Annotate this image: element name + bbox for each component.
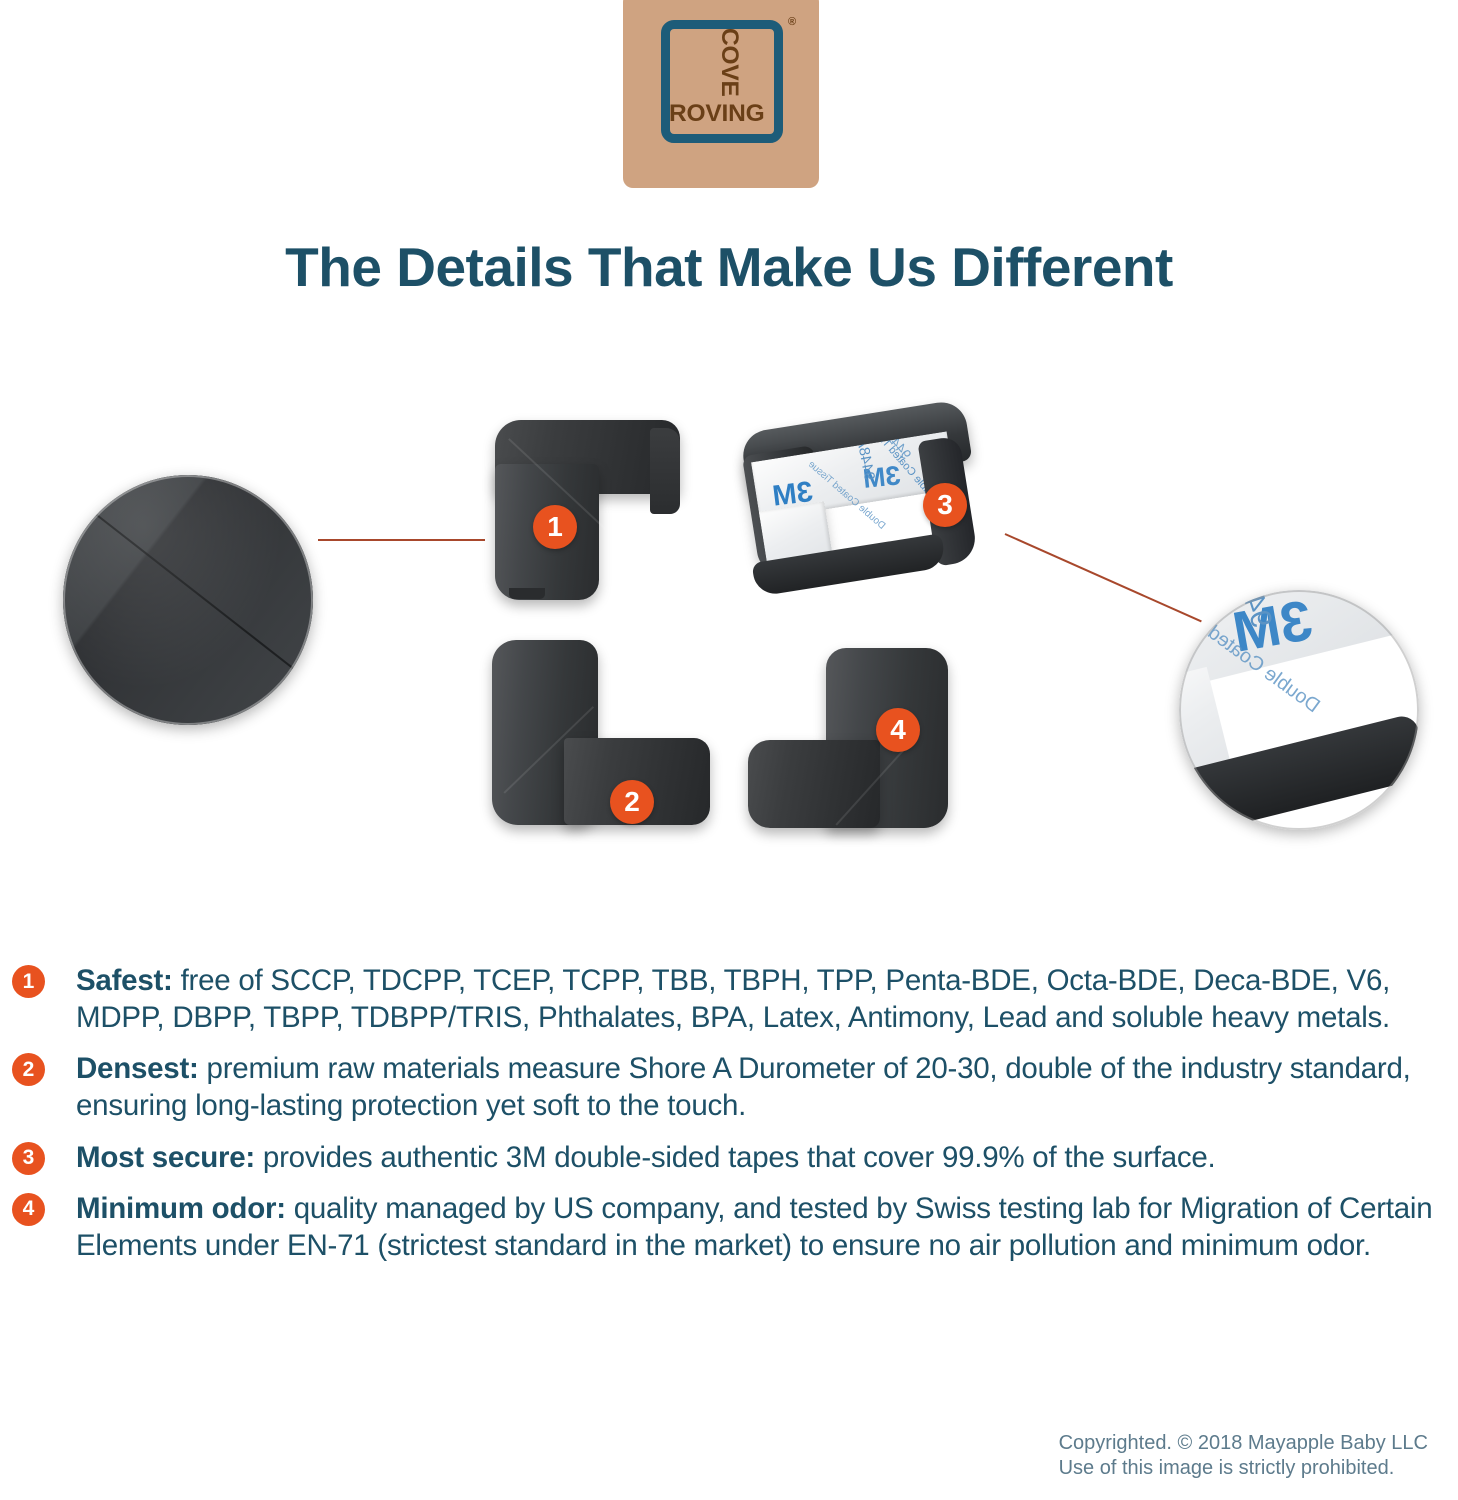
guard-bottom-tab: [509, 588, 545, 599]
leader-line-right: [1005, 533, 1202, 622]
copyright-line-2: Use of this image is strictly prohibited…: [1059, 1456, 1428, 1482]
copyright-notice: Copyrighted. © 2018 Mayapple Baby LLC Us…: [1059, 1431, 1428, 1482]
bullet-badge-1: 1: [12, 965, 45, 998]
copyright-line-1: Copyrighted. © 2018 Mayapple Baby LLC: [1059, 1431, 1428, 1457]
bullet-lead-1: Safest:: [76, 964, 173, 997]
bullet-badge-4: 4: [12, 1193, 45, 1226]
list-item: 4 Minimum odor: quality managed by US co…: [8, 1190, 1453, 1264]
callout-badge-4: 4: [876, 708, 920, 752]
callout-badge-3: 3: [923, 483, 967, 527]
bullet-text-3: Most secure: provides authentic 3M doubl…: [76, 1139, 1453, 1176]
magnifier-rim: [1179, 590, 1419, 830]
tape-detail-magnifier: 3M 3M 9448A 9448A Double Coated Tissue D…: [1179, 590, 1419, 830]
bullet-text-4: Minimum odor: quality managed by US comp…: [76, 1190, 1453, 1264]
guard-arm-horizontal: [748, 740, 880, 828]
corner-guard-angled: [492, 640, 710, 825]
bullet-body-2: premium raw materials measure Shore A Du…: [76, 1052, 1411, 1122]
corner-guard-front: [495, 420, 680, 600]
feature-list: 1 Safest: free of SCCP, TDCPP, TCEP, TCP…: [8, 962, 1453, 1278]
guard-side-face: [650, 428, 680, 514]
product-diagram: 1 2 4 3M 3M 9448A 94: [0, 390, 1458, 910]
bullet-lead-3: Most secure:: [76, 1141, 255, 1174]
list-item: 1 Safest: free of SCCP, TDCPP, TCEP, TCP…: [8, 962, 1453, 1036]
bullet-body-3: provides authentic 3M double-sided tapes…: [255, 1141, 1216, 1174]
tape-brand-label: 3M: [771, 476, 815, 514]
bullet-badge-2: 2: [12, 1053, 45, 1086]
bullet-text-1: Safest: free of SCCP, TDCPP, TCEP, TCPP,…: [76, 962, 1453, 1036]
logo-text-roving: ROVING: [669, 102, 764, 127]
bullet-text-2: Densest: premium raw materials measure S…: [76, 1050, 1453, 1124]
callout-badge-1: 1: [533, 505, 577, 549]
list-item: 2 Densest: premium raw materials measure…: [8, 1050, 1453, 1124]
bullet-lead-4: Minimum odor:: [76, 1192, 286, 1225]
registered-trademark-icon: ®: [788, 16, 796, 28]
bullet-lead-2: Densest:: [76, 1052, 199, 1085]
list-item: 3 Most secure: provides authentic 3M dou…: [8, 1139, 1453, 1176]
bullet-body-1: free of SCCP, TDCPP, TCEP, TCPP, TBB, TB…: [76, 964, 1390, 1034]
foam-surface-magnifier: [63, 475, 313, 725]
bullet-badge-3: 3: [12, 1142, 45, 1175]
brand-logo: ROVING COVE ®: [623, 0, 819, 188]
logo-text-cove: COVE: [717, 28, 742, 97]
page-title: The Details That Make Us Different: [0, 235, 1458, 299]
magnifier-rim: [63, 475, 313, 725]
leader-line-left: [318, 539, 485, 541]
callout-badge-2: 2: [610, 780, 654, 824]
